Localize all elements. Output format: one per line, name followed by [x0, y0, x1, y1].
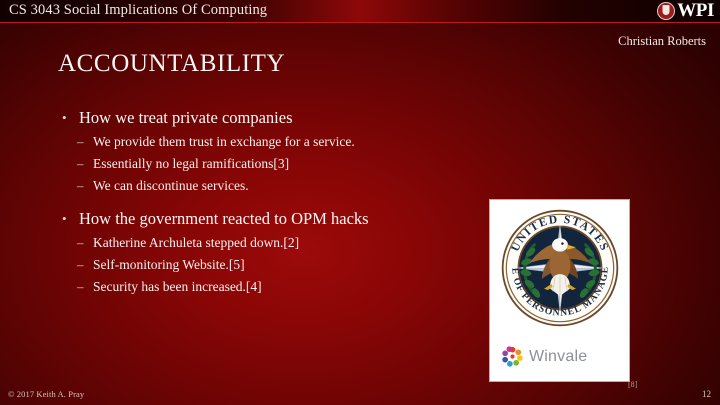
bullet-marker-icon: • — [62, 207, 67, 230]
footer-page-number: 12 — [702, 389, 711, 399]
bullet-text: Essentially no legal ramifications[3] — [93, 156, 289, 171]
bullet-level2: – Self-monitoring Website.[5] — [58, 254, 478, 276]
image-citation: [8] — [628, 380, 637, 389]
bullet-text: We can discontinue services. — [93, 178, 249, 193]
dash-marker-icon: – — [77, 254, 84, 276]
bullet-level2: – Essentially no legal ramifications[3] — [58, 153, 478, 175]
dash-marker-icon: – — [77, 175, 84, 197]
slide-header-bar: CS 3043 Social Implications Of Computing… — [0, 0, 720, 23]
footer-copyright: © 2017 Keith A. Pray — [8, 389, 84, 399]
presentation-slide: CS 3043 Social Implications Of Computing… — [0, 0, 720, 405]
bullet-level2: – Katherine Archuleta stepped down.[2] — [58, 232, 478, 254]
bullet-text: Katherine Archuleta stepped down.[2] — [93, 235, 299, 250]
wpi-wordmark: WPI — [677, 1, 714, 20]
dash-marker-icon: – — [77, 276, 84, 298]
wpi-seal-icon — [657, 2, 675, 20]
slide-image: UNITED STATES OFFICE OF PERSONNEL MANAGE… — [489, 199, 630, 382]
bullet-text: Self-monitoring Website.[5] — [93, 257, 245, 272]
bullet-level2: – We can discontinue services. — [58, 175, 478, 197]
dash-marker-icon: – — [77, 232, 84, 254]
wpi-logo: WPI — [657, 1, 714, 20]
bullet-marker-icon: • — [62, 106, 67, 129]
winvale-pinwheel-icon — [502, 346, 523, 367]
bullet-text: We provide them trust in exchange for a … — [93, 134, 355, 149]
bullet-level2: – Security has been increased.[4] — [58, 276, 478, 298]
winvale-wordmark: Winvale — [529, 349, 587, 365]
course-title: CS 3043 Social Implications Of Computing — [9, 2, 267, 19]
slide-title: ACCOUNTABILITY — [58, 50, 285, 78]
slide-body: • How we treat private companies – We pr… — [58, 106, 478, 298]
presenter-name: Christian Roberts — [618, 34, 706, 49]
bullet-text: How we treat private companies — [79, 108, 293, 127]
bullet-group-spacer — [58, 197, 478, 207]
opm-seal-icon: UNITED STATES OFFICE OF PERSONNEL MANAGE… — [499, 207, 621, 329]
bullet-level1: • How the government reacted to OPM hack… — [58, 207, 478, 230]
dash-marker-icon: – — [77, 131, 84, 153]
bullet-level2: – We provide them trust in exchange for … — [58, 131, 478, 153]
bullet-text: Security has been increased.[4] — [93, 279, 262, 294]
bullet-level1: • How we treat private companies — [58, 106, 478, 129]
dash-marker-icon: – — [77, 153, 84, 175]
winvale-logo: Winvale — [502, 346, 587, 367]
bullet-text: How the government reacted to OPM hacks — [79, 209, 369, 228]
